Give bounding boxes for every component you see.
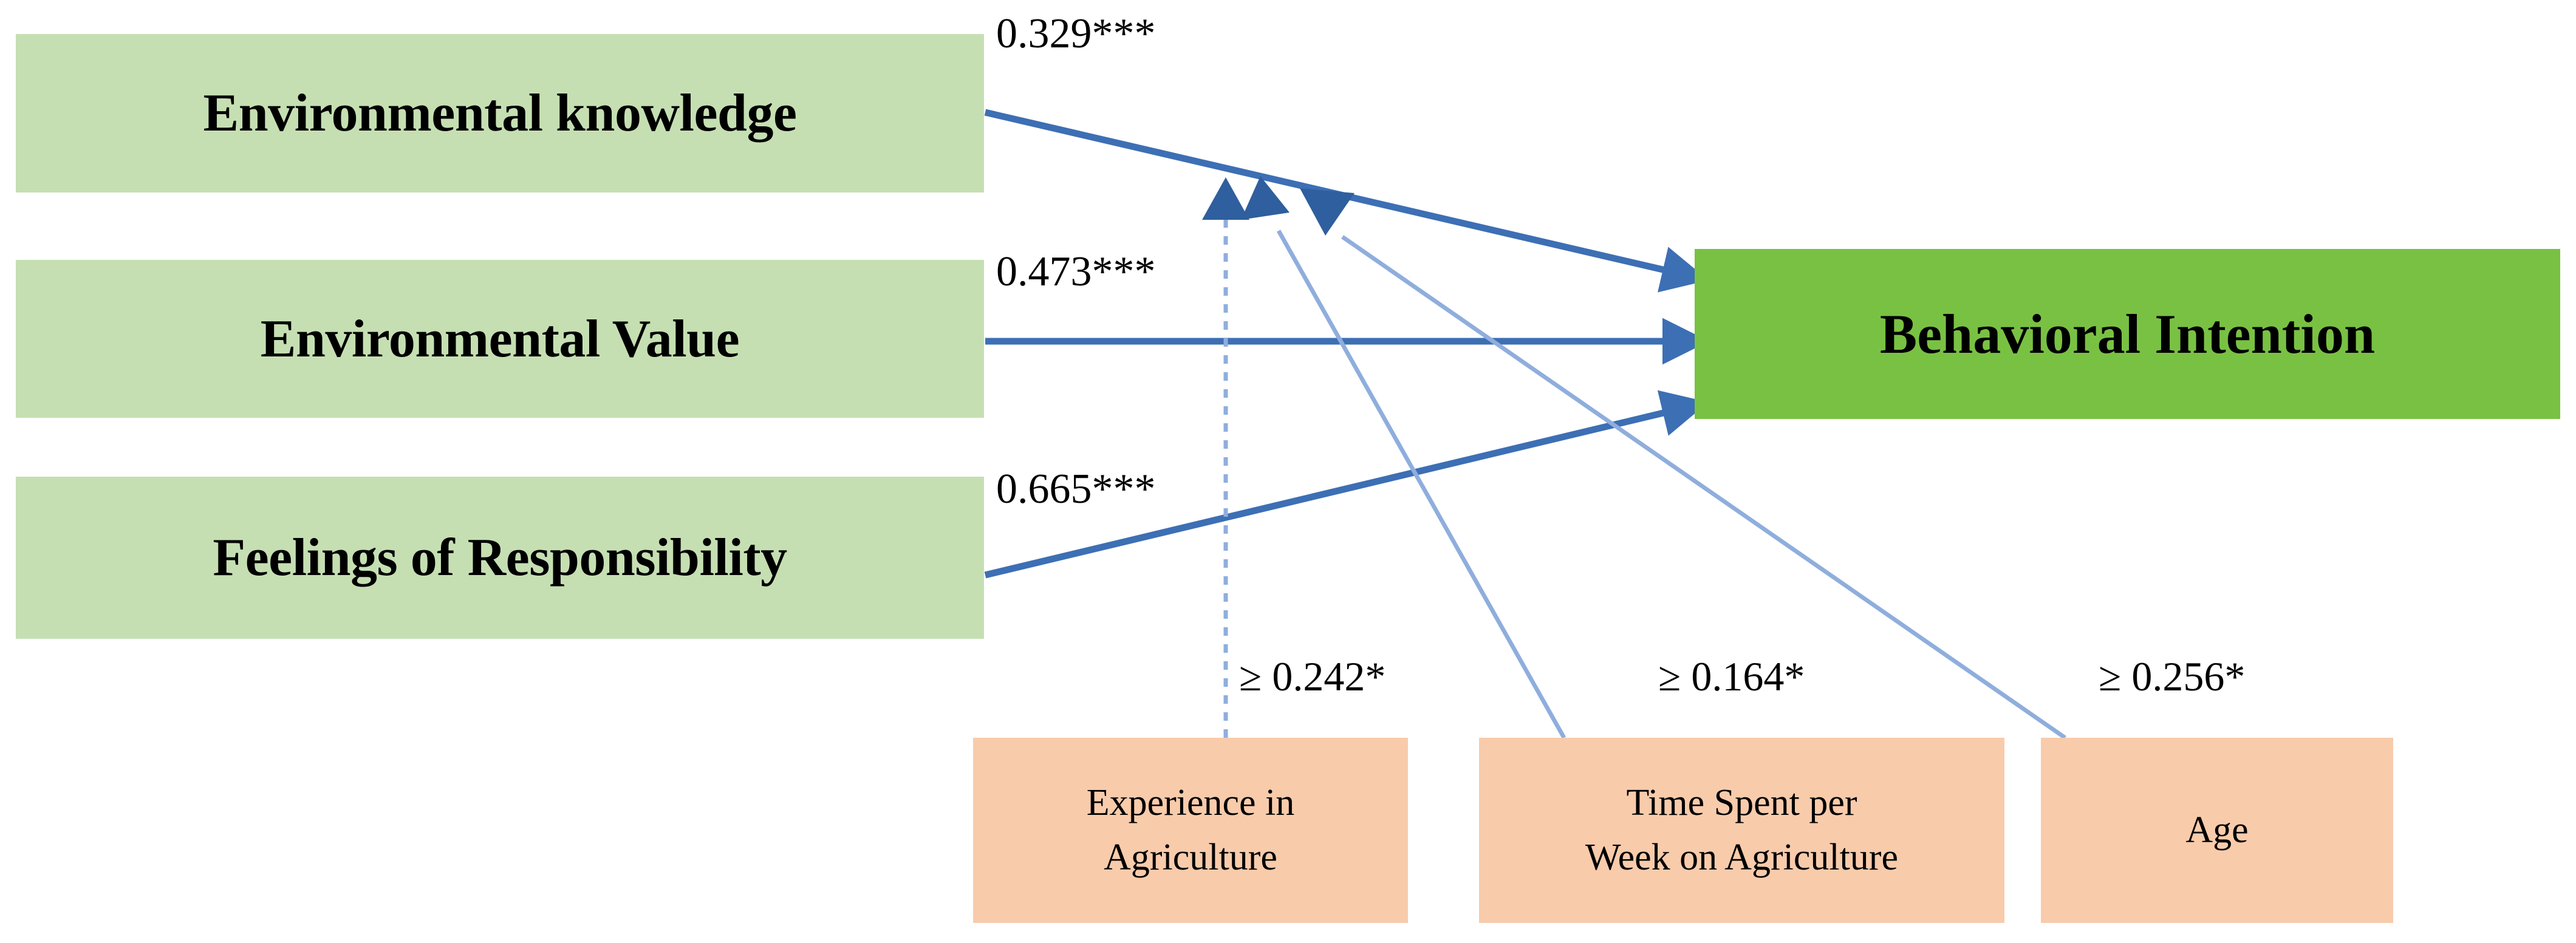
node-label-line-1: Experience in xyxy=(1087,776,1295,831)
node-label-line-2: Agriculture xyxy=(1104,831,1277,885)
moderator-arrowhead-experience-in-agriculture xyxy=(1202,177,1249,220)
node-label: Feelings of Responsibility xyxy=(213,527,787,588)
coefficient-label-feelings-of-responsibility: 0.665*** xyxy=(996,465,1156,514)
node-label-line-2: Week on Agriculture xyxy=(1585,831,1898,885)
moderator-arrowhead-time-spent-per-week xyxy=(1241,176,1290,220)
node-behavioral-intention[interactable]: Behavioral Intention xyxy=(1695,249,2560,419)
coefficient-label-environmental-value: 0.473*** xyxy=(996,248,1156,296)
node-experience-in-agriculture[interactable]: Experience in Agriculture xyxy=(973,738,1408,923)
moderation-label-age: ≥ 0.256* xyxy=(2099,653,2245,701)
node-environmental-value[interactable]: Environmental Value xyxy=(16,260,984,418)
node-label: Age xyxy=(2185,803,2248,858)
node-label-line-1: Time Spent per xyxy=(1626,776,1857,831)
node-environmental-knowledge[interactable]: Environmental knowledge xyxy=(16,34,984,192)
moderation-label-time-spent-per-week: ≥ 0.164* xyxy=(1658,653,1805,701)
node-label: Environmental knowledge xyxy=(203,83,797,144)
node-label: Behavioral Intention xyxy=(1880,302,2375,366)
diagram-canvas: Environmental knowledge Environmental Va… xyxy=(0,0,2576,943)
coefficient-label-environmental-knowledge: 0.329*** xyxy=(996,10,1156,58)
node-label: Environmental Value xyxy=(261,308,739,370)
node-age[interactable]: Age xyxy=(2041,738,2393,923)
moderation-label-experience-in-agriculture: ≥ 0.242* xyxy=(1239,653,1385,701)
node-time-spent-per-week-on-agriculture[interactable]: Time Spent per Week on Agriculture xyxy=(1479,738,2004,923)
moderator-arrowhead-age xyxy=(1300,188,1355,236)
node-feelings-of-responsibility[interactable]: Feelings of Responsibility xyxy=(16,477,984,639)
